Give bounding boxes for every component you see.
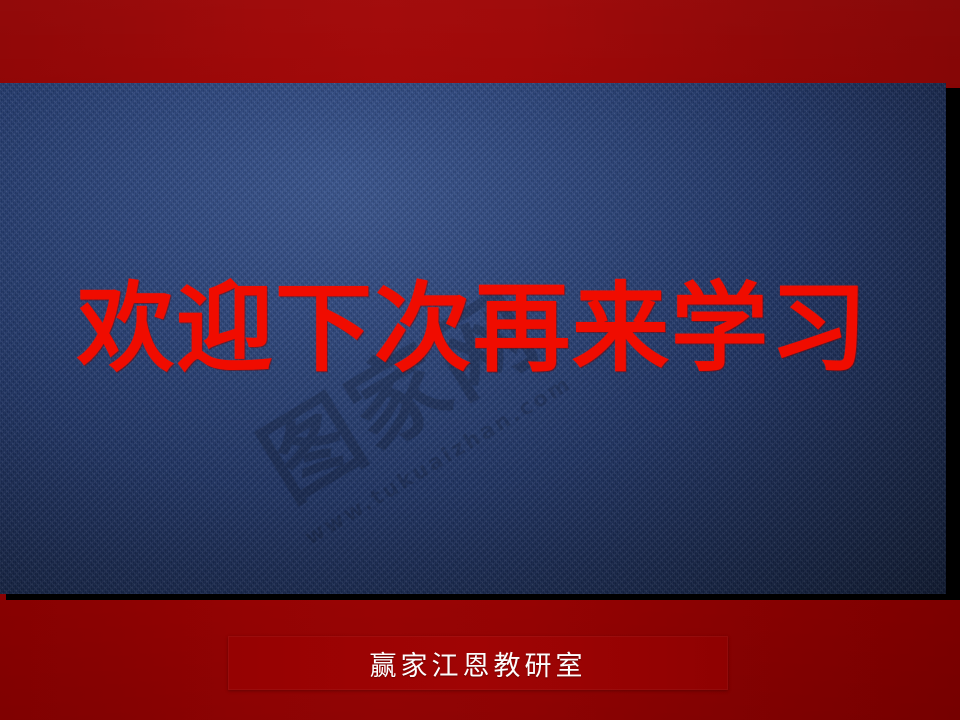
watermark-secondary-text: www.tukuaizhan.com: [301, 371, 577, 550]
footer-label: 赢家江恩教研室: [370, 644, 587, 683]
slide-title: 欢迎下次再来学习: [0, 276, 946, 381]
footer-banner: 赢家江恩教研室: [228, 636, 728, 690]
presentation-slide: 图家网 www.tukuaizhan.com 欢迎下次再来学习 赢家江恩教研室: [0, 0, 960, 720]
